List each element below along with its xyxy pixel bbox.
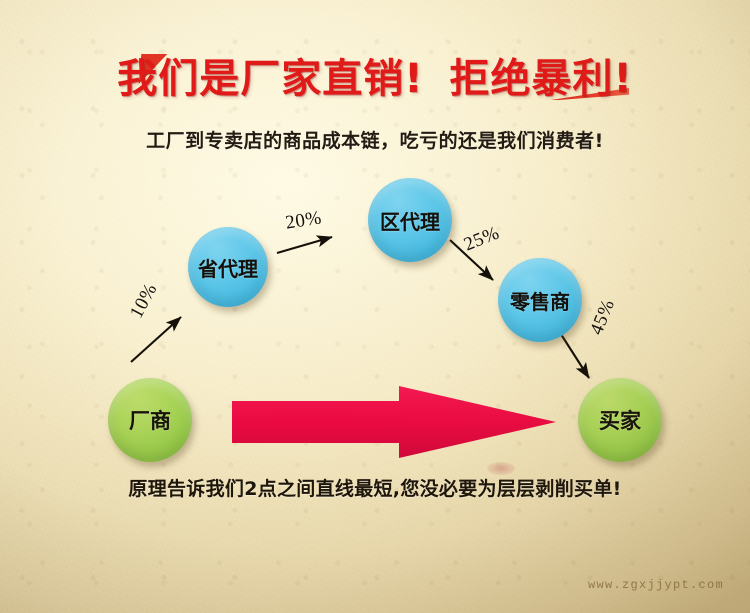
node-province-agent[interactable]: 省代理 (188, 227, 268, 307)
node-retailer[interactable]: 零售商 (498, 258, 582, 342)
node-manufacturer[interactable]: 厂商 (108, 378, 192, 462)
direct-sale-arrow (232, 386, 556, 458)
watermark-url: www.zgxjjypt.com (588, 578, 724, 592)
flow-arrow-manufacturer-to-province (131, 317, 181, 362)
infographic-canvas: 我们是厂家直销!拒绝暴利! 工厂到专卖店的商品成本链，吃亏的还是我们消费者! (0, 0, 750, 613)
node-buyer[interactable]: 买家 (578, 378, 662, 462)
node-retailer-label: 零售商 (510, 286, 570, 315)
node-province-agent-label: 省代理 (198, 253, 258, 282)
node-manufacturer-label: 厂商 (129, 405, 171, 435)
node-buyer-label: 买家 (599, 405, 641, 435)
node-district-agent[interactable]: 区代理 (368, 178, 452, 262)
diagram-arrows-layer (0, 0, 750, 613)
page-caption: 原理告诉我们2点之间直线最短,您没必要为层层剥削买单! (0, 474, 750, 501)
flow-arrow-province-to-district (277, 237, 332, 253)
node-district-agent-label: 区代理 (380, 206, 440, 235)
